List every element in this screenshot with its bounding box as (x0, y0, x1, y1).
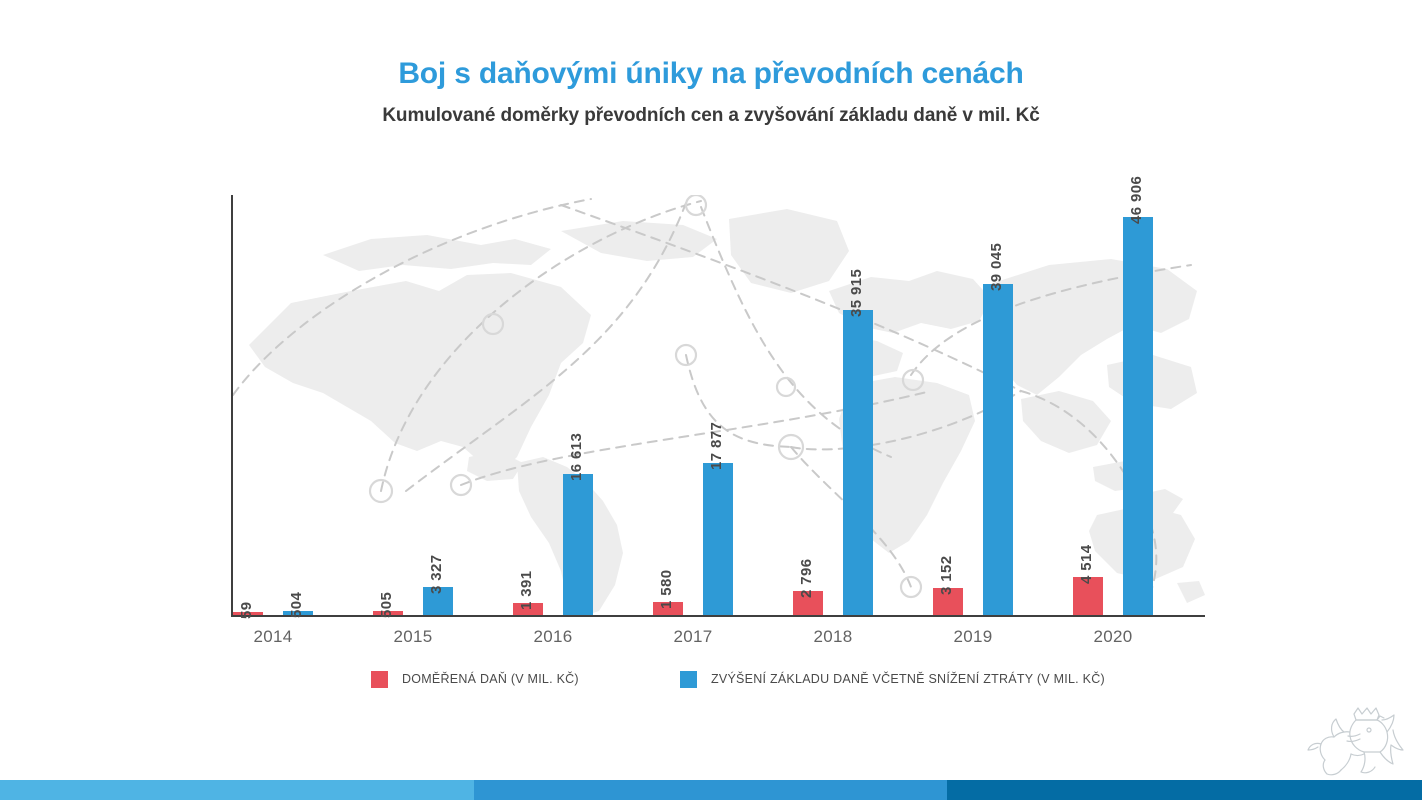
bar-2018-series-2[interactable] (843, 310, 873, 615)
bar-value-label-2019-series-2: 39 045 (988, 242, 1005, 290)
bar-value-label-2015-series-1: 505 (378, 591, 395, 617)
bar-value-label-2017-series-1: 1 580 (658, 569, 675, 609)
legend-item-1[interactable]: DOMĚŘENÁ DAŇ (V MIL. KČ) (371, 668, 579, 690)
bar-2016-series-2[interactable] (563, 474, 593, 615)
x-tick-2015: 2015 (353, 627, 473, 647)
x-tick-2016: 2016 (493, 627, 613, 647)
czech-lion-emblem-icon (1294, 706, 1404, 778)
bar-value-label-2014-series-1: 59 (238, 602, 255, 620)
bar-value-label-2019-series-1: 3 152 (938, 556, 955, 596)
page-title: Boj s daňovými úniky na převodních cenác… (0, 57, 1422, 91)
bar-value-label-2018-series-2: 35 915 (848, 269, 865, 317)
bar-value-label-2016-series-2: 16 613 (568, 433, 585, 481)
slide-root: Boj s daňovými úniky na převodních cenác… (0, 0, 1422, 800)
bar-value-label-2015-series-2: 3 327 (428, 554, 445, 594)
footer-segment-light (0, 780, 474, 800)
legend-swatch-2 (680, 671, 697, 688)
legend-label-1: DOMĚŘENÁ DAŇ (V MIL. KČ) (402, 672, 579, 686)
bar-value-label-2020-series-2: 46 906 (1128, 176, 1145, 224)
footer-color-bar (0, 780, 1422, 800)
footer-segment-mid (474, 780, 948, 800)
x-tick-2020: 2020 (1053, 627, 1173, 647)
x-tick-2018: 2018 (773, 627, 893, 647)
footer-segment-dark (947, 780, 1422, 800)
chart-legend: DOMĚŘENÁ DAŇ (V MIL. KČ)ZVÝŠENÍ ZÁKLADU … (231, 668, 1205, 692)
x-tick-2017: 2017 (633, 627, 753, 647)
legend-label-2: ZVÝŠENÍ ZÁKLADU DANĚ VČETNĚ SNÍŽENÍ ZTRÁ… (711, 672, 1105, 686)
legend-swatch-1 (371, 671, 388, 688)
bar-2020-series-2[interactable] (1123, 217, 1153, 615)
bar-value-label-2014-series-2: 504 (288, 591, 305, 617)
x-tick-2019: 2019 (913, 627, 1033, 647)
bar-value-label-2017-series-2: 17 877 (708, 422, 725, 470)
page-subtitle: Kumulované doměrky převodních cen a zvyš… (0, 105, 1422, 127)
legend-item-2[interactable]: ZVÝŠENÍ ZÁKLADU DANĚ VČETNĚ SNÍŽENÍ ZTRÁ… (680, 668, 1105, 690)
bar-2019-series-2[interactable] (983, 284, 1013, 615)
chart-plot-area: 595045053 3271 39116 6131 58017 8772 796… (231, 195, 1205, 617)
bar-value-label-2018-series-1: 2 796 (798, 559, 815, 599)
bar-2017-series-2[interactable] (703, 463, 733, 615)
x-tick-2014: 2014 (213, 627, 333, 647)
bar-value-label-2020-series-1: 4 514 (1078, 544, 1095, 584)
bar-value-label-2016-series-1: 1 391 (518, 571, 535, 611)
y-axis-line (231, 195, 233, 617)
